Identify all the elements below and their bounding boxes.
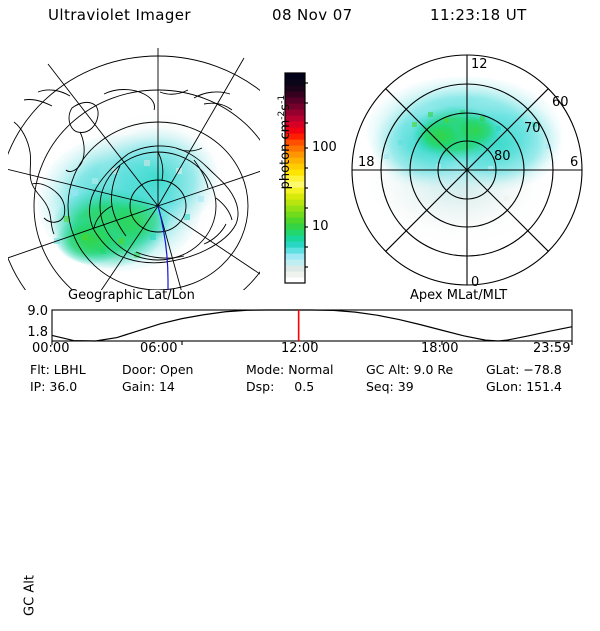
status-glat-label: GLat: [486,362,519,377]
status-glon-label: GLon: [486,379,522,394]
status-seq: Seq: 39 [366,379,414,394]
mlat-label-60: 60 [552,95,569,110]
colorbar-tick-label-10: 10 [312,219,329,234]
status-door: Door: Open [122,362,193,377]
instrument-title: Ultraviolet Imager [48,6,191,24]
colorbar-unit-main: photon cm [278,120,293,190]
status-mode: Mode: Normal [246,362,334,377]
mlat-label-70: 70 [524,121,541,136]
aurora-emission-apex [362,76,562,250]
apex-dial-svg: 12 18 6 0 60 70 80 [340,48,592,290]
status-glat: GLat: −78.8 [486,362,562,377]
status-door-label: Door: [122,362,156,377]
gc-alt-plot-frame [52,310,572,341]
status-flt-value: LBHL [54,362,86,377]
status-glon-value: 151.4 [526,379,562,394]
xtick-1800: 18:00 [421,341,458,356]
xtick-1200: 12:00 [281,341,318,356]
status-gcalt-label: GC Alt: [366,362,410,377]
status-glat-value: −78.8 [523,362,561,377]
xtick-0600: 06:00 [140,341,177,356]
apex-dial-grid [352,55,582,285]
status-mode-value: Normal [288,362,333,377]
mlt-label-dawn: 6 [570,155,578,170]
observation-time: 11:23:18 UT [430,6,527,24]
status-glon: GLon: 151.4 [486,379,562,394]
apex-mlat-mlt-panel[interactable]: 12 18 6 0 60 70 80 [340,48,592,290]
status-flt: Flt: LBHL [30,362,86,377]
xtick-2359: 23:59 [533,341,570,356]
gc-alt-orbit-curve [52,310,572,341]
gc-alt-axis-label: GC Alt [23,561,38,631]
status-seq-value: 39 [398,379,414,394]
gc-altitude-strip-plot[interactable]: Geographic Lat/Lon Apex MLat/MLT GC Alt … [0,288,600,358]
header-bar: Ultraviolet Imager 08 Nov 07 11:23:18 UT [0,4,600,30]
status-gain-value: 14 [159,379,175,394]
colorbar-unit-mid: s [278,104,293,111]
status-ip-label: IP: [30,379,45,394]
colorbar-group[interactable]: photon cm-2s-1 100 10 [262,48,340,294]
status-door-value: Open [160,362,193,377]
colorbar-tick-label-100: 100 [312,140,337,155]
status-mode-label: Mode: [246,362,284,377]
mlat-label-80: 80 [494,149,511,164]
colorbar-axis-label: photon cm-2s-1 [277,62,293,222]
mlt-label-noon: 12 [471,57,488,72]
observation-date: 08 Nov 07 [272,6,353,24]
colorbar-unit-exp1: -2 [277,111,287,120]
status-gain-label: Gain: [122,379,155,394]
status-ip: IP: 36.0 [30,379,77,394]
status-ip-value: 36.0 [49,379,77,394]
geographic-map-svg [8,48,260,290]
status-footer: Flt: LBHL IP: 36.0 Door: Open Gain: 14 M… [0,362,600,400]
status-gcalt: GC Alt: 9.0 Re [366,362,453,377]
xtick-0000: 00:00 [32,341,69,356]
status-gain: Gain: 14 [122,379,175,394]
status-flt-label: Flt: [30,362,50,377]
status-seq-label: Seq: [366,379,394,394]
status-dsp-value: 0.5 [294,379,314,394]
status-dsp: Dsp: 0.5 [246,379,314,394]
mlt-label-dusk: 18 [358,155,375,170]
colorbar-unit-exp2: -1 [277,95,287,104]
status-gcalt-value: 9.0 Re [414,362,454,377]
geographic-map-panel[interactable] [8,48,260,290]
status-dsp-label: Dsp: [246,379,274,394]
